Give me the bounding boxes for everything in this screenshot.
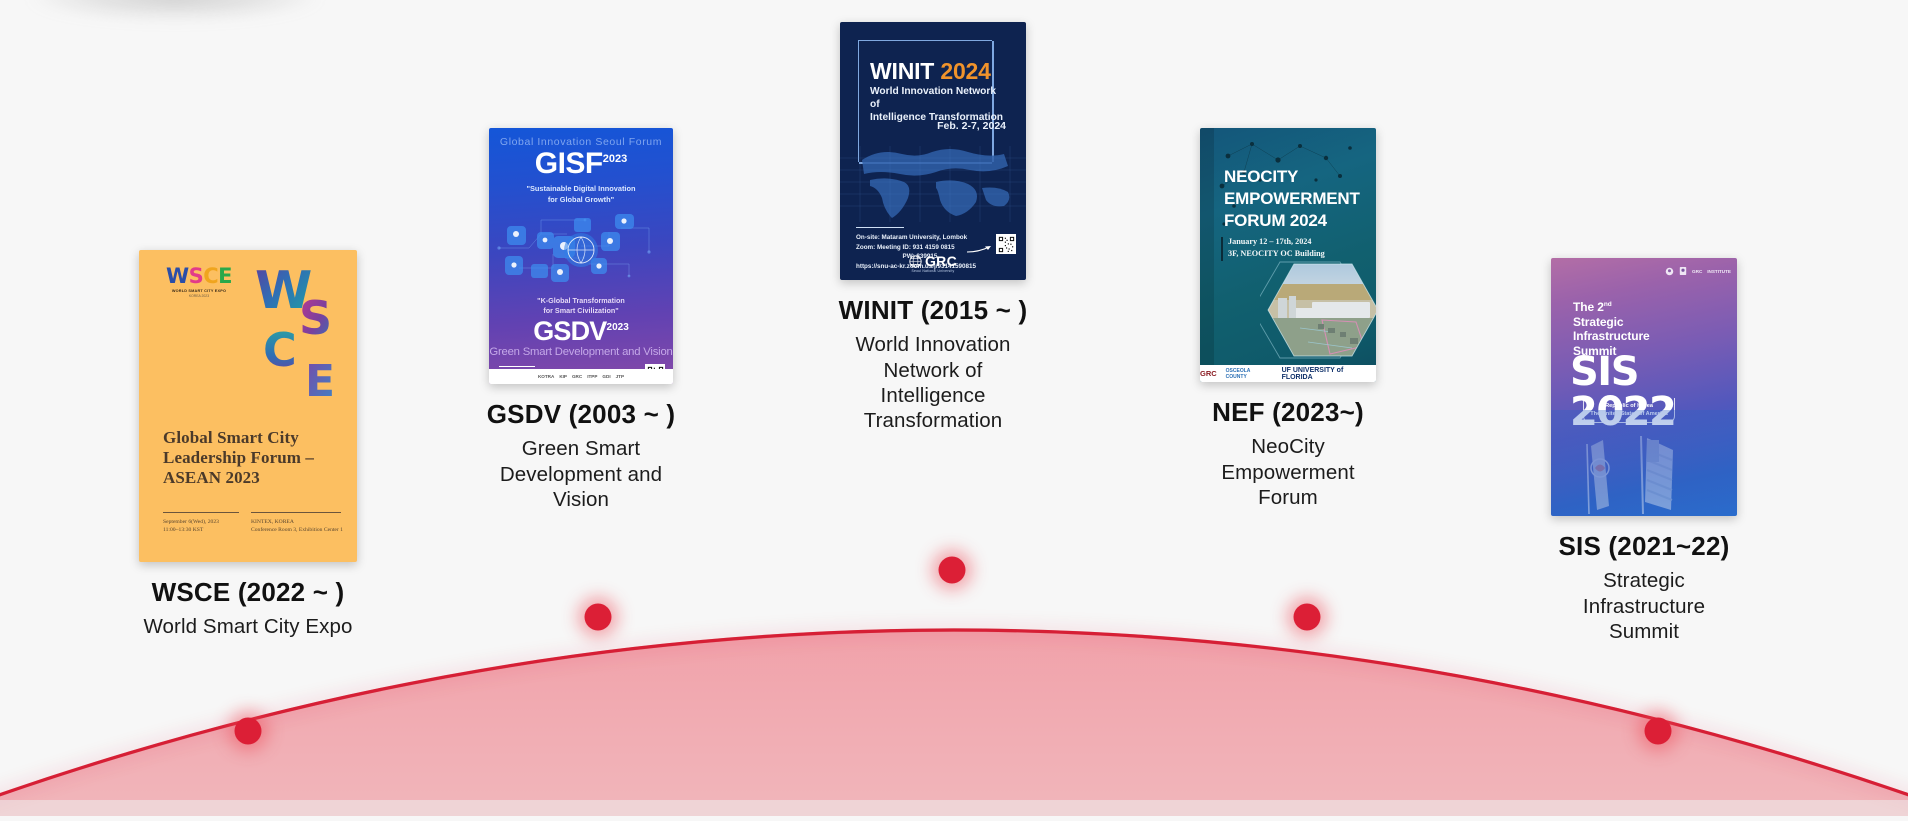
- winit-qr-glyph: [998, 236, 1015, 253]
- winit-org-sub: Seoul National University: [840, 269, 1026, 273]
- nef-title-line2: EMPOWERMENT: [1224, 188, 1364, 210]
- gsdv-headline-year: 2023: [603, 153, 627, 165]
- timeline-dot-nef[interactable]: [1294, 604, 1321, 631]
- gsdv-sponsor-2: GRC: [572, 374, 582, 379]
- caption-sis: SIS (2021~22) Strategic Infrastructure S…: [1551, 530, 1737, 644]
- gsdv-quote2: "K-Global Transformation for Smart Civil…: [489, 296, 673, 317]
- caption-abbr-nef: NEF (2023~): [1200, 396, 1376, 428]
- sis-logo-1: INSTITUTE: [1707, 269, 1731, 274]
- background-smudge-artifact: [30, 0, 320, 20]
- sis-partner-icon: [1665, 267, 1674, 276]
- winit-subtitle: World Innovation Network of Intelligence…: [870, 86, 1008, 124]
- nef-partner-1: OSCEOLA COUNTY: [1226, 368, 1273, 380]
- globe-icon: [909, 255, 922, 268]
- gsdv-headline: GISF2023: [489, 149, 673, 179]
- wsce-date-block: September 6(Wed), 2023 11:00~13:30 KST: [163, 518, 243, 535]
- arc-glow-stroke: [0, 630, 1908, 816]
- svg-text:C: C: [263, 323, 297, 377]
- sis-kicker-line1: The 2nd: [1573, 300, 1650, 315]
- winit-world-map-icon: [840, 130, 1026, 226]
- sis-flags-image: [1551, 410, 1737, 516]
- sis-logo-row: GRC INSTITUTE: [1665, 266, 1731, 276]
- caption-full-wsce: World Smart City Expo: [143, 614, 352, 639]
- gsdv-date-rule: [499, 366, 535, 367]
- gsdv-sponsor-4: GDI: [602, 374, 610, 379]
- sis-kicker-line2: Strategic: [1573, 315, 1650, 330]
- winit-qr-code[interactable]: [996, 234, 1016, 254]
- winit-rule: [856, 227, 904, 228]
- svg-text:E: E: [305, 356, 335, 407]
- wsce-venue-block: KINTEX, KOREA Conference Room 3, Exhibit…: [251, 518, 347, 535]
- gsdv-sponsor-bar: KOTRA KIP GRC ITPP GDI JTP: [489, 369, 673, 384]
- caption-wsce: WSCE (2022 ~ ) World Smart City Expo: [143, 576, 352, 640]
- wsce-date-line1: September 6(Wed), 2023: [163, 518, 243, 526]
- caption-abbr-gsdv: GSDV (2003 ~ ): [487, 398, 676, 430]
- wsce-venue-line1: KINTEX, KOREA: [251, 518, 347, 526]
- poster-gsdv[interactable]: Global Innovation Seoul Forum GISF2023 "…: [489, 128, 673, 384]
- nef-title-line3: FORUM 2024: [1224, 210, 1364, 232]
- nef-title-line1: NEOCITY: [1224, 166, 1364, 188]
- wsce-logo: WSCE WORLD SMART CITY EXPO KOREA 2023: [162, 266, 236, 298]
- gsdv-full-name: Green Smart Development and Vision: [489, 346, 673, 358]
- caption-abbr-wsce: WSCE (2022 ~ ): [143, 576, 352, 608]
- caption-full-sis: Strategic Infrastructure Summit: [1551, 568, 1737, 644]
- sis-kicker-sup: nd: [1604, 301, 1612, 308]
- wsce-rule-left: [163, 512, 239, 513]
- timeline-infographic: WSCE WORLD SMART CITY EXPO KOREA 2023: [0, 0, 1908, 816]
- gsdv-name-year: 2023: [607, 322, 629, 333]
- gsdv-quote2-line1: "K-Global Transformation: [489, 296, 673, 306]
- arc-stroke: [0, 630, 1908, 816]
- wsce-logo-letter-c: C: [203, 264, 218, 288]
- arc-baseline-band: [0, 800, 1908, 816]
- event-node-winit[interactable]: WINIT 2024 World Innovation Network of I…: [840, 22, 1026, 434]
- poster-winit[interactable]: WINIT 2024 World Innovation Network of I…: [840, 22, 1026, 280]
- sis-crest-icon: [1679, 266, 1687, 276]
- nef-partner-2: UF UNIVERSITY of FLORIDA: [1282, 367, 1376, 381]
- wsce-logo-subtitle2: KOREA 2023: [162, 294, 236, 298]
- sis-country-0: Republic of Korea: [1584, 402, 1674, 410]
- wsce-logo-letter-w: W: [166, 264, 189, 288]
- gsdv-quote-line1: "Sustainable Digital Innovation: [489, 184, 673, 195]
- wsce-venue-line2: Conference Room 3, Exhibition Center 1: [251, 526, 347, 534]
- timeline-dot-winit[interactable]: [939, 557, 966, 584]
- arc-fill: [0, 630, 1908, 816]
- timeline-dot-sis[interactable]: [1645, 718, 1672, 745]
- nef-date: January 12 – 17th, 2024: [1228, 236, 1325, 248]
- sis-kicker-the2nd: The 2: [1573, 300, 1604, 314]
- gsdv-name-text: GSDV: [533, 316, 606, 346]
- event-node-gsdv[interactable]: Global Innovation Seoul Forum GISF2023 "…: [489, 128, 673, 512]
- svg-text:S: S: [299, 291, 332, 345]
- winit-onsite: On-site: Mataram University, Lombok: [856, 233, 984, 243]
- caption-full-gsdv: Green Smart Development and Vision: [487, 436, 676, 512]
- caption-full-nef: NeoCity Empowerment Forum: [1200, 434, 1376, 510]
- nef-partner-bar: GRC OSCEOLA COUNTY UF UNIVERSITY of FLOR…: [1200, 365, 1376, 382]
- gsdv-header: Global Innovation Seoul Forum GISF2023 "…: [489, 136, 673, 205]
- winit-zoom-id: Zoom: Meeting ID: 931 4159 0815: [856, 243, 984, 253]
- wsce-logo-letter-s: S: [189, 264, 204, 288]
- gsdv-sponsor-3: ITPP: [587, 374, 597, 379]
- gsdv-tech-network-icon: [489, 206, 673, 288]
- nef-partner-0: GRC: [1200, 369, 1217, 378]
- winit-org-logo: GRC Seoul National University: [840, 253, 1026, 273]
- poster-sis[interactable]: GRC INSTITUTE The 2nd Strategic Infrastr…: [1551, 258, 1737, 516]
- gsdv-name: GSDV2023: [489, 318, 673, 345]
- event-node-sis[interactable]: GRC INSTITUTE The 2nd Strategic Infrastr…: [1551, 258, 1737, 644]
- wsce-logo-letter-e: E: [218, 264, 232, 288]
- nef-title: NEOCITY EMPOWERMENT FORUM 2024: [1224, 166, 1364, 232]
- timeline-dot-wsce[interactable]: [235, 718, 262, 745]
- poster-nef[interactable]: NEOCITY EMPOWERMENT FORUM 2024 January 1…: [1200, 128, 1376, 382]
- gsdv-sponsor-5: JTP: [616, 374, 624, 379]
- wsce-logo-subtitle: WORLD SMART CITY EXPO: [162, 289, 236, 293]
- nef-hexagon-photo: [1260, 258, 1376, 362]
- poster-wsce[interactable]: WSCE WORLD SMART CITY EXPO KOREA 2023: [139, 250, 357, 562]
- sis-kicker-line3: Infrastructure: [1573, 329, 1650, 344]
- event-node-nef[interactable]: NEOCITY EMPOWERMENT FORUM 2024 January 1…: [1200, 128, 1376, 510]
- caption-winit: WINIT (2015 ~ ) World Innovation Network…: [839, 294, 1028, 434]
- gsdv-quote-line2: for Global Growth": [489, 195, 673, 206]
- wsce-artwork-icon: W S C E: [233, 264, 351, 414]
- sis-logo-0: GRC: [1692, 269, 1702, 274]
- winit-title-year: 2024: [940, 58, 990, 84]
- winit-org-name: GRC: [925, 253, 957, 269]
- wsce-poster-title: Global Smart City Leadership Forum – ASE…: [163, 428, 341, 488]
- wsce-rule-right: [251, 512, 341, 513]
- caption-full-winit: World Innovation Network of Intelligence…: [839, 332, 1028, 434]
- caption-abbr-winit: WINIT (2015 ~ ): [839, 294, 1028, 326]
- wsce-date-line2: 11:00~13:30 KST: [163, 526, 243, 534]
- winit-subtitle-line1: World Innovation Network of: [870, 86, 1008, 112]
- gsdv-sponsor-0: KOTRA: [538, 374, 554, 379]
- gsdv-headline-text: GISF: [535, 147, 603, 180]
- caption-gsdv: GSDV (2003 ~ ) Green Smart Development a…: [487, 398, 676, 512]
- event-node-wsce[interactable]: WSCE WORLD SMART CITY EXPO KOREA 2023: [139, 250, 357, 640]
- gsdv-quote: "Sustainable Digital Innovation for Glob…: [489, 184, 673, 205]
- caption-nef: NEF (2023~) NeoCity Empowerment Forum: [1200, 396, 1376, 510]
- winit-title-text: WINIT: [870, 58, 934, 84]
- winit-title: WINIT 2024: [870, 60, 991, 83]
- gsdv-sponsor-1: KIP: [559, 374, 567, 379]
- caption-abbr-sis: SIS (2021~22): [1551, 530, 1737, 562]
- timeline-dot-gsdv[interactable]: [585, 604, 612, 631]
- nef-meta: January 12 – 17th, 2024 3F, NEOCITY OC B…: [1228, 236, 1325, 260]
